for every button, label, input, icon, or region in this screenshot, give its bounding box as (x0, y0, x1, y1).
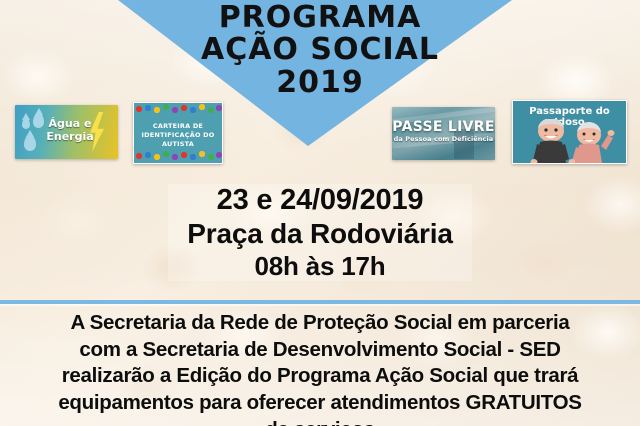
badge-autista-label: CARTEIRA DE IDENTIFICAÇÃO DO AUTISTA (138, 122, 218, 150)
puzzle-piece-border-icon (134, 103, 222, 116)
event-details-panel: 23 e 24/09/2019 Praça da Rodoviária 08h … (168, 184, 472, 281)
poster-canvas: PROGRAMA AÇÃO SOCIAL 2019 Água e Energia… (0, 0, 640, 426)
badge-autista-label-line1: CARTEIRA DE (153, 122, 203, 130)
badge-agua-label: Água e Energia (41, 117, 99, 144)
badge-carteira-autista[interactable]: CARTEIRA DE IDENTIFICAÇÃO DO AUTISTA (133, 102, 223, 164)
badge-agua-label-line2: Energia (46, 130, 93, 143)
badge-agua-label-line1: Água e (49, 117, 92, 130)
badge-autista-label-line3: AUTISTA (162, 140, 194, 148)
description-line-5-clipped: de serviços (8, 417, 632, 426)
description-paragraph: A Secretaria da Rede de Proteção Social … (8, 310, 632, 426)
badge-autista-label-line2: IDENTIFICAÇÃO DO (142, 131, 215, 139)
divider-highlight (0, 304, 640, 306)
badge-agua-e-energia[interactable]: Água e Energia (15, 105, 118, 159)
badge-passaporte-idoso[interactable]: Passaporte do Idoso (512, 100, 627, 164)
event-date: 23 e 24/09/2019 (168, 184, 472, 218)
description-line-4: equipamentos para oferecer atendimentos … (8, 390, 632, 417)
event-time: 08h às 17h (168, 251, 472, 281)
water-drop-icon (24, 135, 36, 151)
badge-passe-subtitle: da Pessoa com Deficiência (392, 135, 495, 143)
badge-passe-title: PASSE LIVRE (392, 119, 495, 135)
description-line-2: com a Secretaria de Desenvolvimento Soci… (8, 337, 632, 364)
description-line-3: realizarão a Edição do Programa Ação Soc… (8, 363, 632, 390)
description-line-1: A Secretaria da Rede de Proteção Social … (8, 310, 632, 337)
elderly-couple-icon (513, 119, 626, 163)
badge-passe-livre[interactable]: PASSE LIVRE da Pessoa com Deficiência (392, 107, 495, 160)
event-place: Praça da Rodoviária (168, 218, 472, 251)
water-drop-icon (22, 118, 30, 129)
puzzle-piece-border-icon (134, 150, 222, 163)
